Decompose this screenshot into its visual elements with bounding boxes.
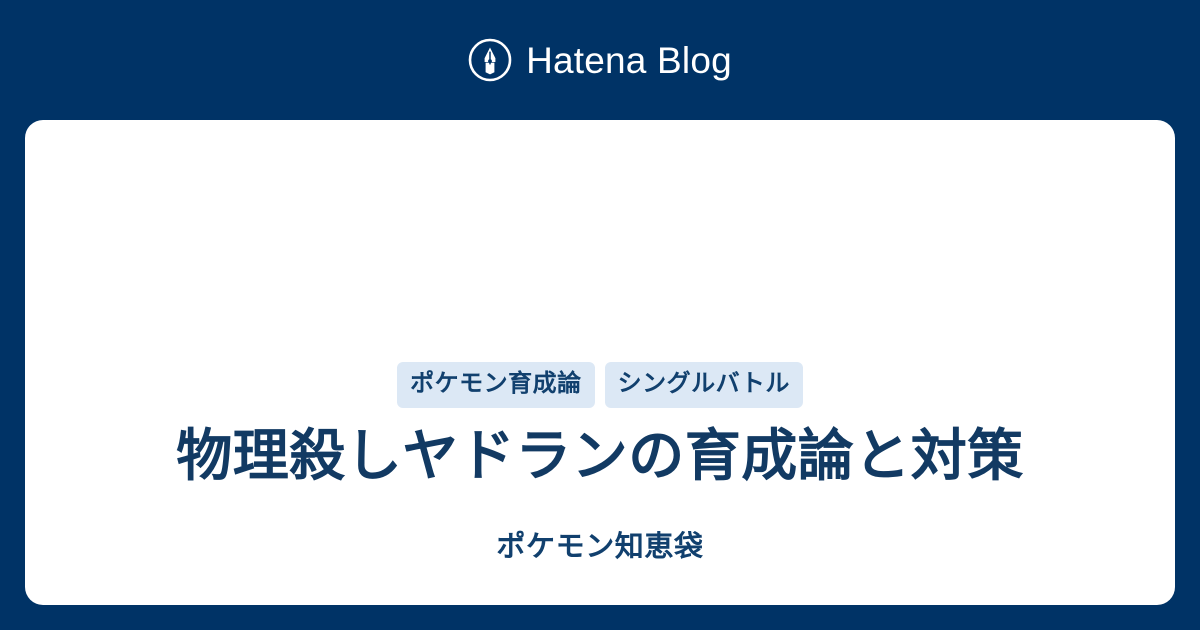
entry-tag-list: ポケモン育成論 シングルバトル [397,362,803,408]
brand-name: Hatena Blog [526,42,732,79]
brand-header: Hatena Blog [0,0,1200,120]
fountain-pen-nib-circle-icon [468,38,512,82]
entry-card: ポケモン育成論 シングルバトル 物理殺しヤドランの育成論と対策 ポケモン知恵袋 [25,120,1175,605]
entry-tag[interactable]: シングルバトル [605,362,803,408]
entry-main: ポケモン育成論 シングルバトル 物理殺しヤドランの育成論と対策 [25,120,1175,490]
entry-footer: ポケモン知恵袋 [25,490,1175,605]
blog-title: ポケモン知恵袋 [496,533,703,562]
entry-tag[interactable]: ポケモン育成論 [397,362,595,408]
entry-title: 物理殺しヤドランの育成論と対策 [136,422,1064,490]
ogp-canvas: Hatena Blog ポケモン育成論 シングルバトル 物理殺しヤドランの育成論… [0,0,1200,630]
